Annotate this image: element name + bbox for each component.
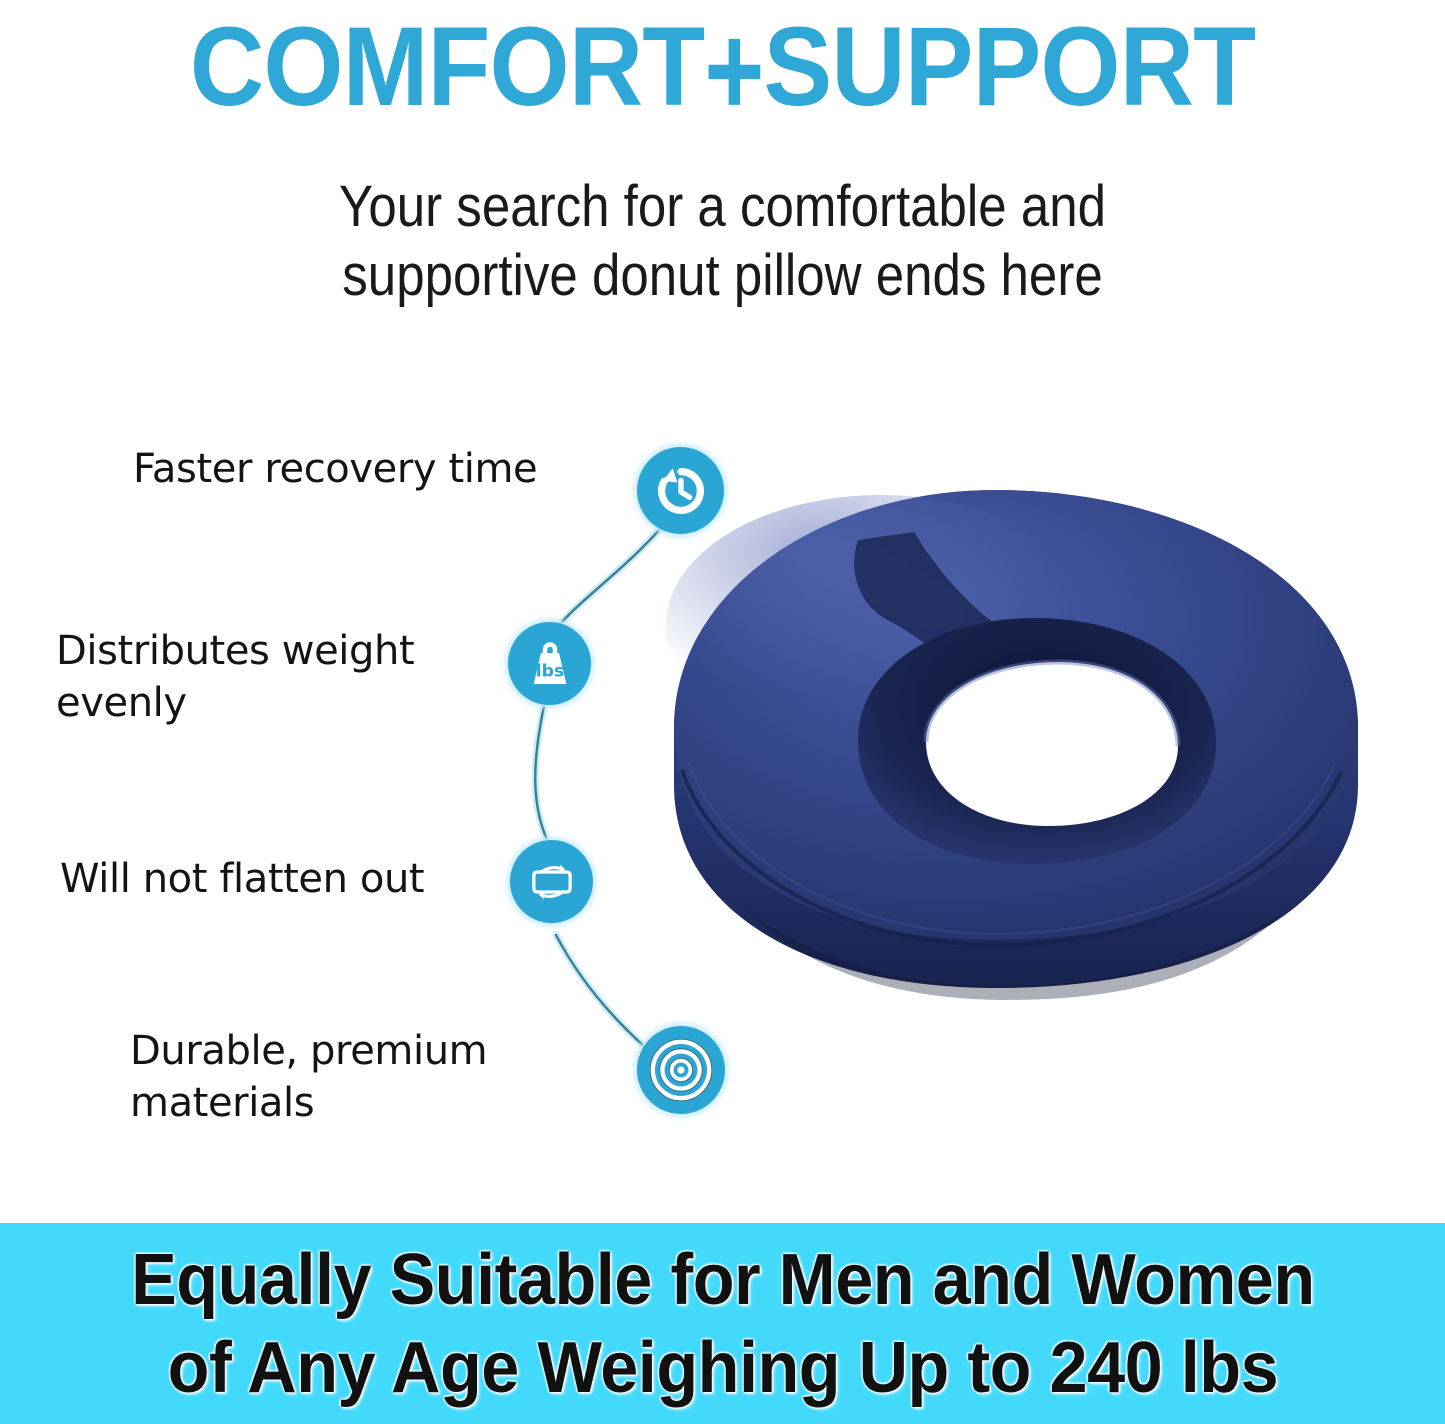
page-title-right: SUPPORT <box>763 4 1255 129</box>
bottom-banner-text: Equally Suitable for Men and Women of An… <box>131 1236 1315 1412</box>
feature-label-faster-recovery-time: Faster recovery time <box>133 443 603 495</box>
page-title-left: COMFORT <box>190 4 704 129</box>
product-image-donut-pillow <box>596 440 1416 1020</box>
feature-label-distributes-weight-evenly: Distributes weight evenly <box>56 625 486 729</box>
bottom-banner: Equally Suitable for Men and Women of An… <box>0 1223 1445 1424</box>
feature-label-durable-premium-materials: Durable, premium materials <box>130 1025 550 1129</box>
weight-lbs-icon: lbs <box>508 622 591 705</box>
foam-rebound-icon <box>510 840 593 923</box>
product-infographic: COMFORT+SUPPORT Your search for a comfor… <box>0 0 1445 1424</box>
page-subtitle-line-2: supportive donut pillow ends here <box>87 241 1359 310</box>
page-title: COMFORT+SUPPORT <box>58 8 1387 126</box>
bottom-banner-line-1: Equally Suitable for Men and Women <box>131 1236 1315 1324</box>
bullseye-target-icon <box>637 1026 725 1114</box>
weight-icon-text: lbs <box>535 661 563 681</box>
plus-icon: + <box>704 3 763 140</box>
feature-label-will-not-flatten-out: Will not flatten out <box>60 853 500 905</box>
bottom-banner-line-2: of Any Age Weighing Up to 240 lbs <box>131 1324 1315 1412</box>
page-subtitle: Your search for a comfortable and suppor… <box>87 172 1359 310</box>
page-subtitle-line-1: Your search for a comfortable and <box>87 172 1359 241</box>
